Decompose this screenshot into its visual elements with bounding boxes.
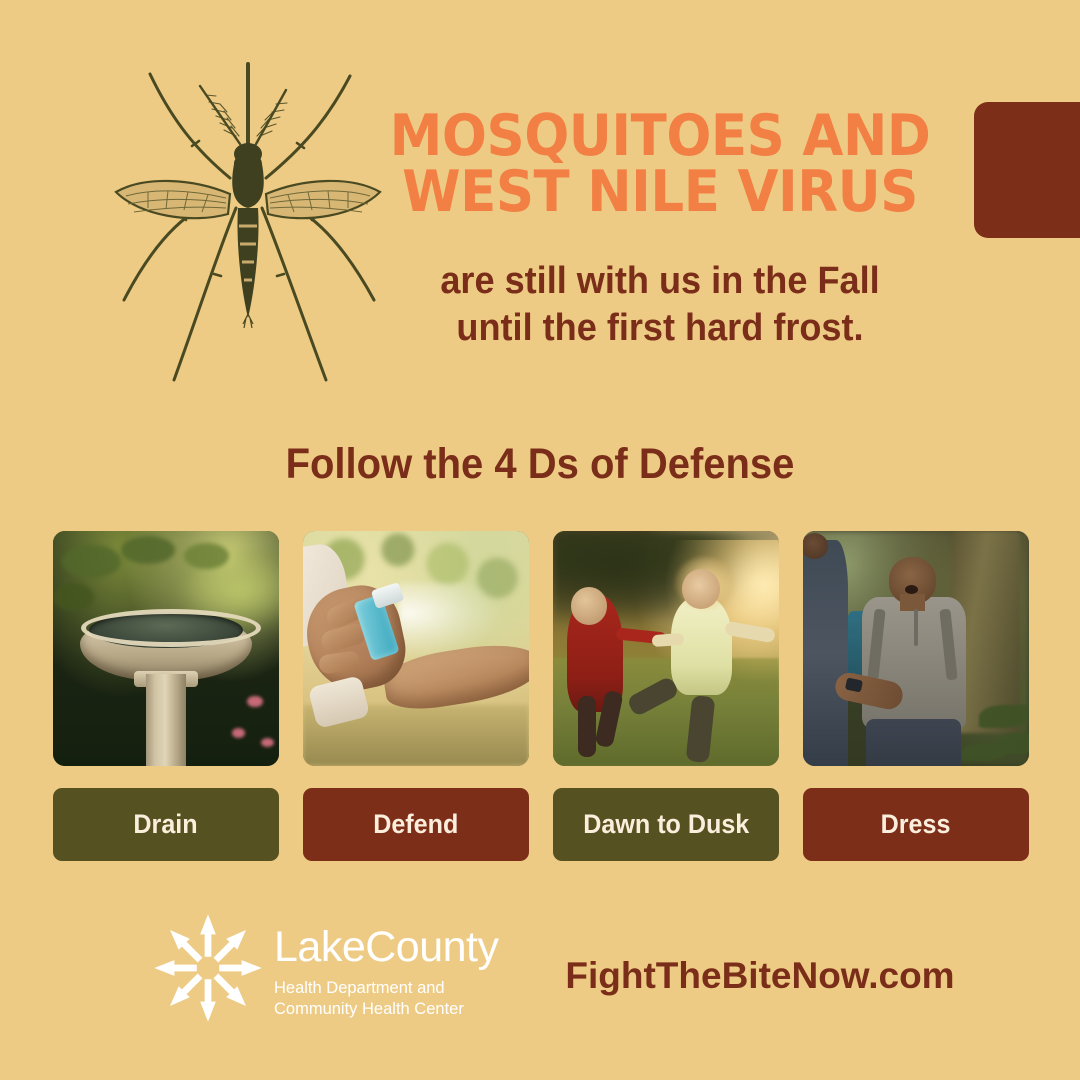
lake-county-logo: LakeCounty Health Department and Communi… [152, 912, 499, 1024]
subheading-line-2: until the first hard frost. [347, 305, 974, 352]
section-heading: Follow the 4 Ds of Defense [38, 440, 1042, 489]
headline-line-2: WEST NILE VIRUS [353, 164, 967, 220]
button-defend-label: Defend [373, 809, 458, 840]
subheading-line-1: are still with us in the Fall [347, 258, 974, 305]
poster-canvas: MOSQUITOES AND WEST NILE VIRUS are still… [0, 0, 1080, 1080]
headline-line-1: MOSQUITOES AND [353, 108, 967, 164]
button-dress-label: Dress [881, 809, 951, 840]
button-drain-label: Drain [134, 809, 198, 840]
card-dress [803, 531, 1029, 766]
photo-repellent-spray [303, 531, 529, 766]
logo-tagline: Health Department and Community Health C… [274, 978, 499, 1021]
button-dawn-to-dusk[interactable]: Dawn to Dusk [553, 788, 779, 861]
button-drain[interactable]: Drain [53, 788, 279, 861]
campaign-url[interactable]: FightTheBiteNow.com [540, 955, 980, 997]
logo-name: LakeCounty [274, 926, 499, 969]
photo-row [53, 531, 1029, 766]
photo-children-running [553, 531, 779, 766]
card-defend [303, 531, 529, 766]
defense-cards-grid: Drain Defend Dawn to Dusk Dress [53, 531, 1029, 861]
logo-text-block: LakeCounty Health Department and Communi… [274, 912, 499, 1021]
button-dawn-to-dusk-label: Dawn to Dusk [583, 809, 749, 840]
defense-buttons-row: Drain Defend Dawn to Dusk Dress [53, 788, 1029, 861]
button-defend[interactable]: Defend [303, 788, 529, 861]
button-dress[interactable]: Dress [803, 788, 1029, 861]
photo-hiker-forest [803, 531, 1029, 766]
starburst-icon [152, 912, 264, 1024]
logo-tagline-line-2: Community Health Center [274, 999, 499, 1020]
photo-birdbath [53, 531, 279, 766]
card-dawn-to-dusk [553, 531, 779, 766]
subheading: are still with us in the Fall until the … [347, 258, 974, 352]
decorative-corner-block [974, 102, 1080, 238]
page-title: MOSQUITOES AND WEST NILE VIRUS [353, 108, 967, 221]
logo-tagline-line-1: Health Department and [274, 978, 499, 999]
card-drain [53, 531, 279, 766]
